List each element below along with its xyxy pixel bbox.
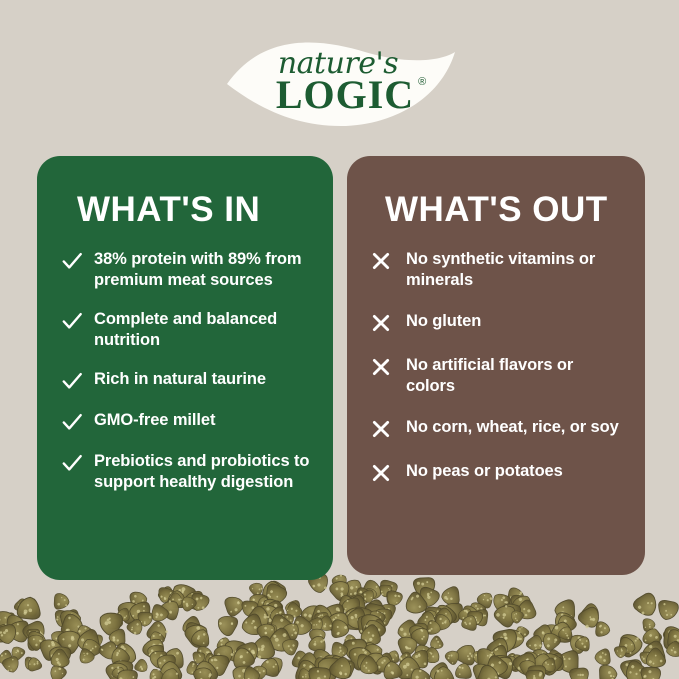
check-icon: [61, 370, 83, 392]
list-item-label: No synthetic vitamins or minerals: [406, 249, 625, 291]
check-icon: [61, 250, 83, 272]
list-item-label: No gluten: [406, 311, 481, 332]
whats-out-title: WHAT'S OUT: [385, 192, 625, 227]
list-item-label: No peas or potatoes: [406, 461, 563, 482]
list-item: No artificial flavors or colors: [371, 355, 625, 397]
whats-in-list: 38% protein with 89% from premium meat s…: [61, 249, 313, 493]
whats-out-list: No synthetic vitamins or mineralsNo glut…: [371, 249, 625, 485]
list-item-label: No artificial flavors or colors: [406, 355, 625, 397]
list-item: No peas or potatoes: [371, 461, 625, 485]
x-icon: [371, 251, 393, 273]
list-item-label: Rich in natural taurine: [94, 369, 266, 390]
check-icon: [61, 452, 83, 474]
list-item-label: 38% protein with 89% from premium meat s…: [94, 249, 313, 291]
whats-in-card: WHAT'S IN 38% protein with 89% from prem…: [37, 156, 333, 580]
check-icon: [61, 411, 83, 433]
x-icon: [371, 419, 393, 441]
x-icon: [371, 463, 393, 485]
x-icon: [371, 357, 393, 379]
whats-in-title: WHAT'S IN: [77, 192, 313, 227]
list-item-label: GMO-free millet: [94, 410, 215, 431]
whats-out-card: WHAT'S OUT No synthetic vitamins or mine…: [347, 156, 645, 575]
product-infographic: nature's LOGIC ® WHAT'S IN 38% protein w: [0, 0, 679, 679]
list-item: GMO-free millet: [61, 410, 313, 433]
list-item: 38% protein with 89% from premium meat s…: [61, 249, 313, 291]
list-item-label: Complete and balanced nutrition: [94, 309, 313, 351]
list-item: Prebiotics and probiotics to support hea…: [61, 451, 313, 493]
list-item: No synthetic vitamins or minerals: [371, 249, 625, 291]
list-item-label: No corn, wheat, rice, or soy: [406, 417, 619, 438]
list-item-label: Prebiotics and probiotics to support hea…: [94, 451, 313, 493]
list-item: Rich in natural taurine: [61, 369, 313, 392]
comparison-cards: WHAT'S IN 38% protein with 89% from prem…: [0, 0, 679, 679]
list-item: Complete and balanced nutrition: [61, 309, 313, 351]
check-icon: [61, 310, 83, 332]
list-item: No corn, wheat, rice, or soy: [371, 417, 625, 441]
x-icon: [371, 313, 393, 335]
list-item: No gluten: [371, 311, 625, 335]
